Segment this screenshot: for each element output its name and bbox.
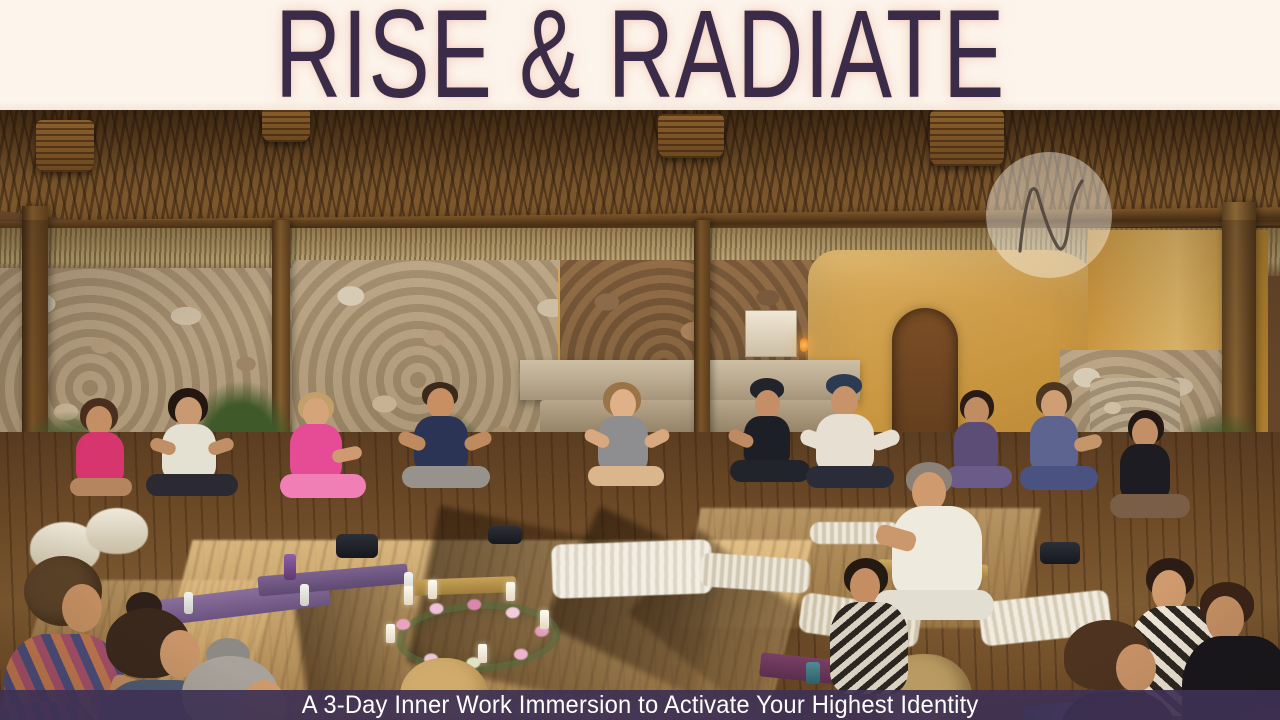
flower-petal [514,648,529,660]
photo-scene [0,110,1280,720]
water-bottle [806,662,820,684]
basket-lamp-icon [930,110,1004,166]
stone-ledge [520,360,860,400]
bag [488,526,522,544]
water-bottle [184,592,193,614]
basket-lamp-icon [262,110,310,142]
flower-petal [429,603,444,615]
basket-lamp-icon [658,114,724,158]
flower-petal [505,607,520,619]
bag [1040,542,1080,564]
water-bottle [300,584,309,606]
flower-petal [467,599,482,611]
candle [428,580,437,599]
candle [506,582,515,601]
page-title: RISE & RADIATE [141,0,1139,110]
basket-lamp-icon [36,120,94,172]
meditation-cushion [86,508,148,554]
candle-flame-icon [800,338,808,352]
blanket [551,539,713,599]
subtitle-text: A 3-Day Inner Work Immersion to Activate… [302,690,979,720]
candle [478,644,487,663]
wall-niche [745,310,797,357]
bag [336,534,378,558]
candle [540,610,549,629]
candle [404,586,413,605]
poster-canvas: RISE & RADIATE [0,0,1280,720]
water-bottle [284,554,296,580]
subtitle-band: A 3-Day Inner Work Immersion to Activate… [0,690,1280,720]
flower-petal [396,619,411,631]
header-band: RISE & RADIATE [0,0,1280,110]
candle [386,624,395,643]
